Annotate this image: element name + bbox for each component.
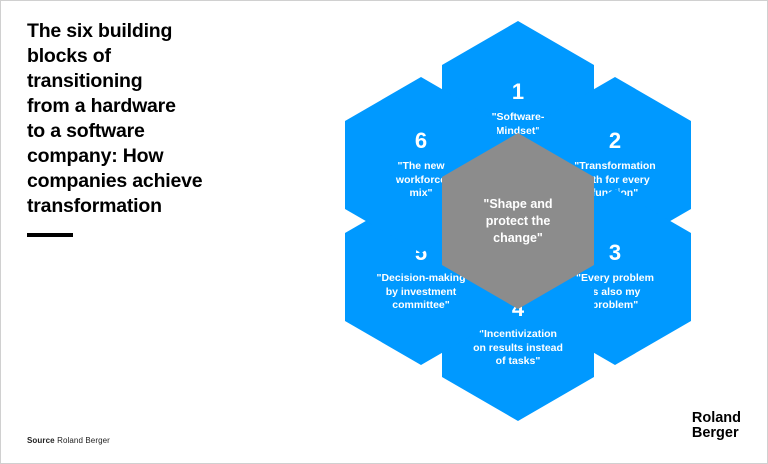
source-label: Source (27, 436, 55, 445)
slide-canvas: The six building blocks of transitioning… (0, 0, 768, 464)
hex-block-1-number: 1 (512, 80, 524, 104)
hex-block-5-label: "Decision-making by investment committee… (359, 272, 484, 313)
hex-block-6-number: 6 (415, 129, 427, 153)
source-note: Source Roland Berger (27, 436, 110, 445)
title-block: The six building blocks of transitioning… (27, 19, 287, 237)
title-underline-rule (27, 233, 73, 237)
page-title: The six building blocks of transitioning… (27, 19, 287, 219)
hex-block-center-label: "Shape and protect the change" (469, 196, 566, 247)
hex-block-2-number: 2 (609, 129, 621, 153)
hexagon-diagram: 1 "Software- Mindset" 2 "Transformation … (283, 11, 753, 431)
source-text: Roland Berger (57, 436, 110, 445)
roland-berger-logo: Roland Berger (692, 411, 741, 441)
hex-block-3-number: 3 (609, 241, 621, 265)
